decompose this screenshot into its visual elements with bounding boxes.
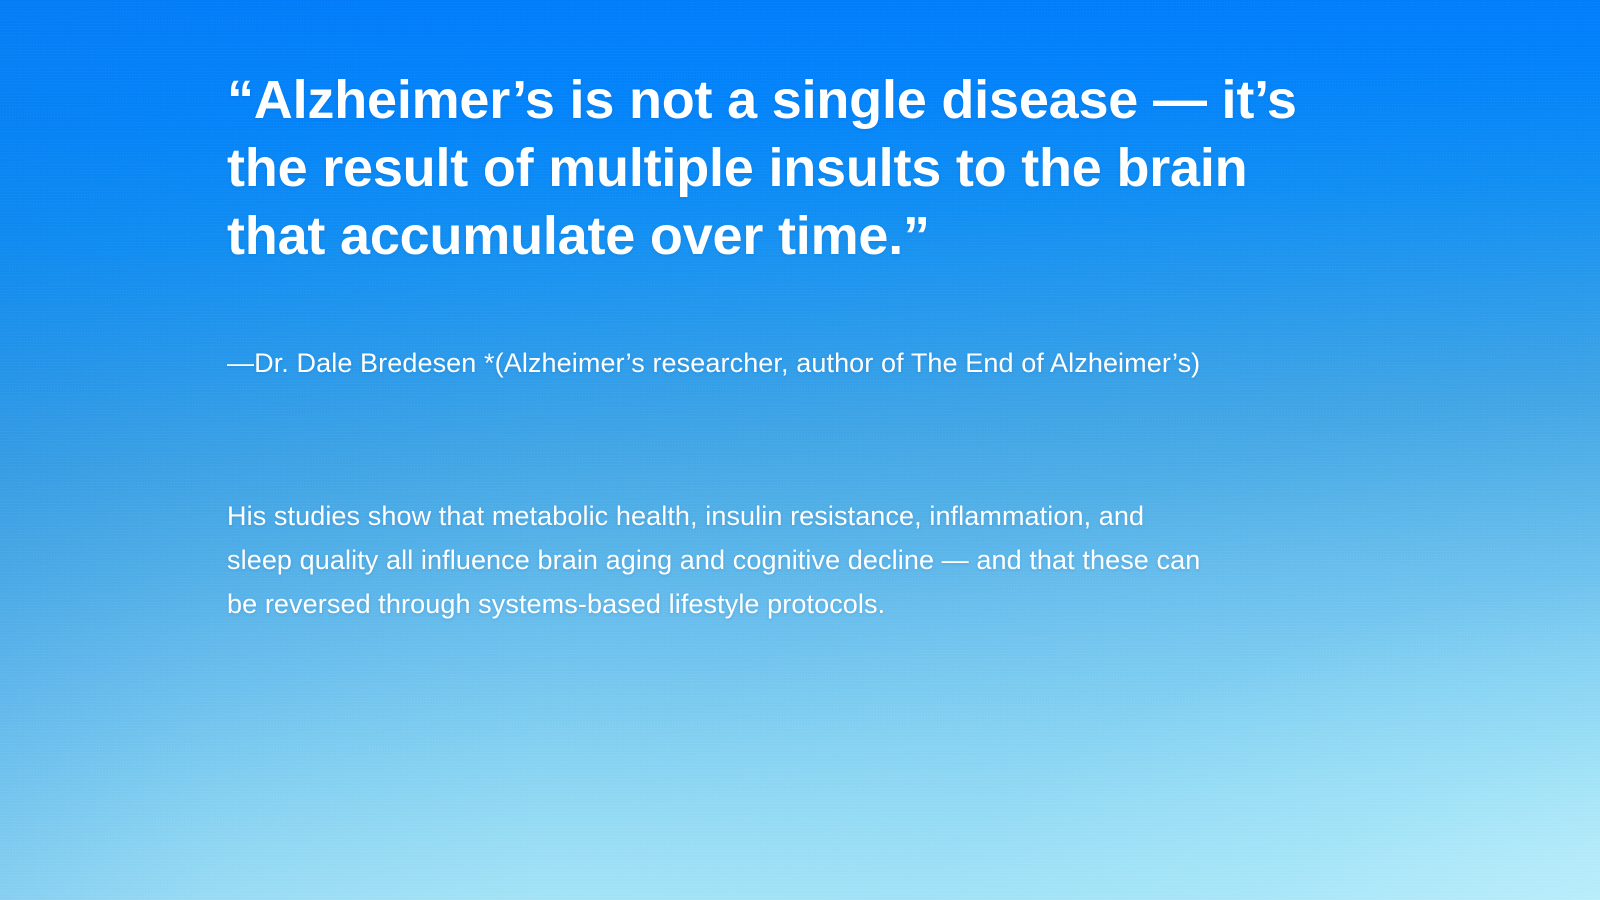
quote-slide: “Alzheimer’s is not a single disease — i… [0,0,1600,900]
quote-attribution: —Dr. Dale Bredesen *(Alzheimer’s researc… [227,344,1387,382]
slide-content: “Alzheimer’s is not a single disease — i… [227,0,1407,900]
quote-body-paragraph: His studies show that metabolic health, … [227,494,1357,626]
quote-heading: “Alzheimer’s is not a single disease — i… [227,66,1347,270]
